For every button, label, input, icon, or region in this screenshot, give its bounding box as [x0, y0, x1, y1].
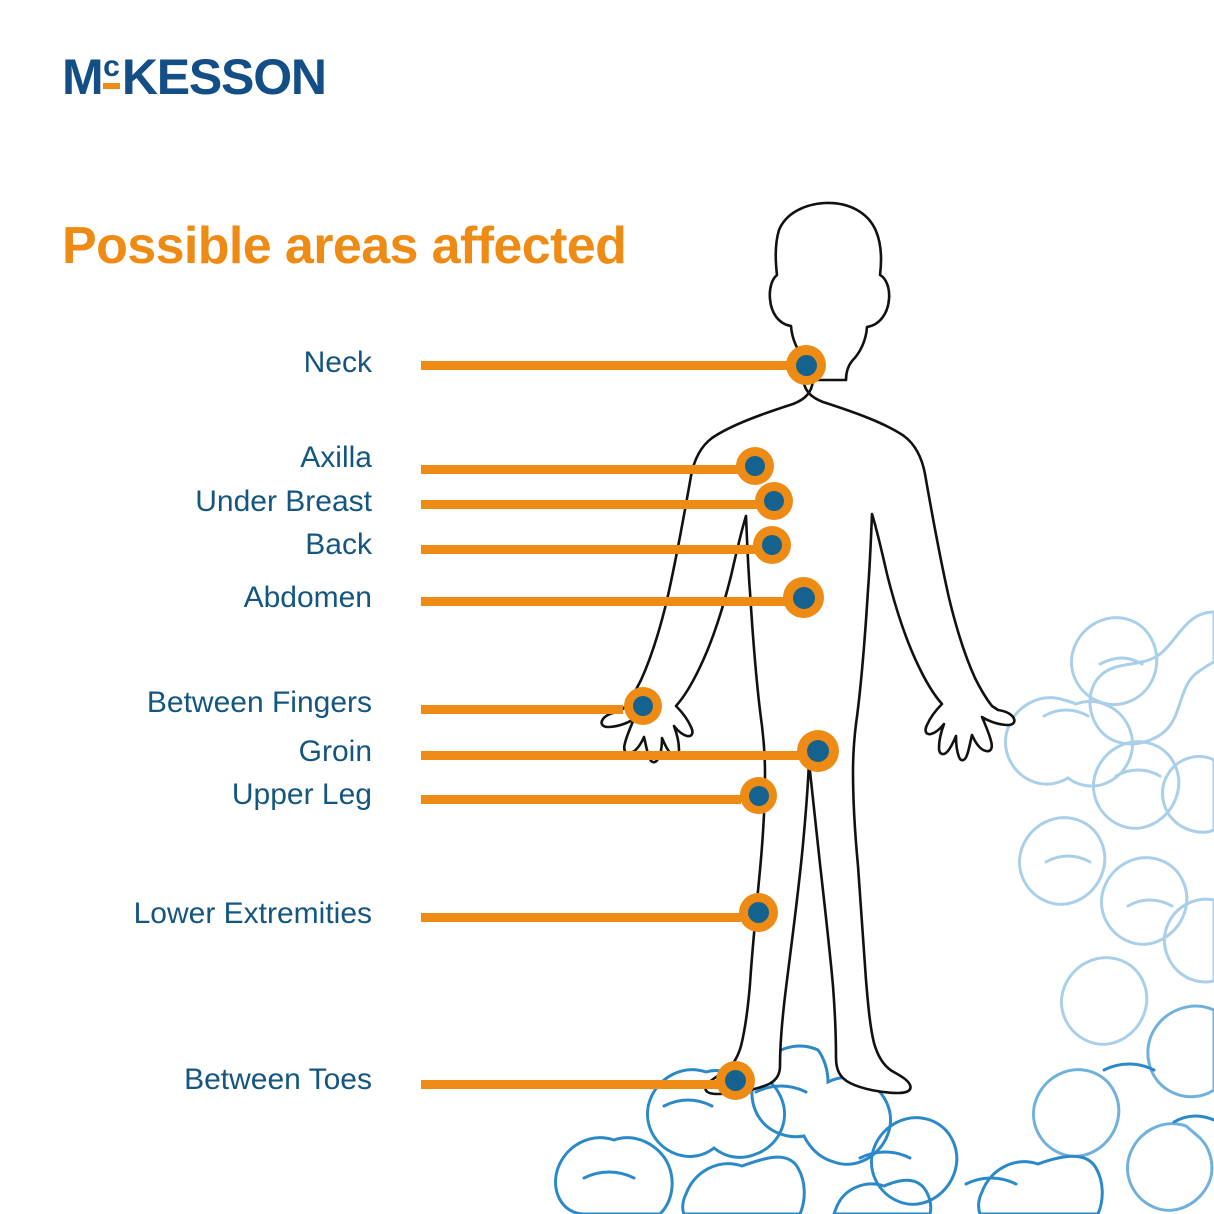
marker-dot-lower-extremities[interactable] [739, 893, 778, 932]
leader-line-axilla [421, 465, 754, 474]
mckesson-logo: M c KESSON [62, 52, 326, 108]
marker-dot-core-between-fingers [633, 696, 653, 716]
leader-line-groin [421, 751, 799, 760]
marker-dot-under-breast[interactable] [755, 482, 793, 520]
logo-orange-underline [103, 83, 120, 89]
callout-label-axilla: Axilla [300, 443, 372, 473]
callout-label-lower-extremities: Lower Extremities [134, 899, 372, 929]
callout-label-groin: Groin [299, 737, 372, 767]
callout-label-under-breast: Under Breast [195, 487, 372, 517]
logo-letters-kesson: KESSON [122, 52, 326, 102]
leader-line-back [421, 545, 771, 554]
marker-dot-groin[interactable] [797, 730, 839, 772]
marker-dot-core-between-toes [725, 1070, 746, 1091]
marker-dot-between-fingers[interactable] [624, 687, 662, 725]
marker-dot-core-under-breast [764, 491, 784, 511]
marker-dot-axilla[interactable] [736, 447, 774, 485]
logo-letter-m: M [62, 52, 102, 102]
human-body-figure [0, 0, 1214, 1214]
leader-line-under-breast [421, 500, 773, 509]
leader-line-abdomen [421, 597, 802, 606]
marker-dot-core-abdomen [793, 587, 815, 609]
leader-line-upper-leg [421, 795, 741, 804]
leader-line-lower-extremities [421, 913, 741, 922]
callout-label-neck: Neck [304, 348, 372, 378]
callout-label-back: Back [305, 530, 372, 560]
infographic-canvas: M c KESSON Possible areas affected NeckA… [0, 0, 1214, 1214]
marker-dot-neck[interactable] [786, 345, 826, 385]
marker-dot-core-upper-leg [749, 786, 769, 806]
marker-dot-core-axilla [745, 456, 765, 476]
marker-dot-abdomen[interactable] [783, 577, 824, 618]
leader-line-neck [421, 361, 805, 370]
page-title: Possible areas affected [62, 216, 626, 276]
logo-superscript-c-wrapper: c [103, 52, 120, 82]
marker-dot-core-lower-extremities [748, 902, 769, 923]
marker-dot-core-groin [807, 740, 829, 762]
callout-label-between-fingers: Between Fingers [147, 688, 372, 718]
callout-label-between-toes: Between Toes [184, 1065, 372, 1095]
marker-dot-between-toes[interactable] [716, 1061, 755, 1100]
marker-dot-upper-leg[interactable] [740, 777, 777, 814]
marker-dot-core-back [762, 535, 782, 555]
marker-dot-back[interactable] [753, 526, 791, 564]
logo-letter-c: c [103, 52, 120, 82]
leader-line-between-toes [421, 1080, 718, 1089]
callout-label-abdomen: Abdomen [244, 583, 372, 613]
leader-line-between-fingers [421, 705, 623, 714]
marker-dot-core-neck [796, 355, 817, 376]
callout-label-upper-leg: Upper Leg [232, 780, 372, 810]
